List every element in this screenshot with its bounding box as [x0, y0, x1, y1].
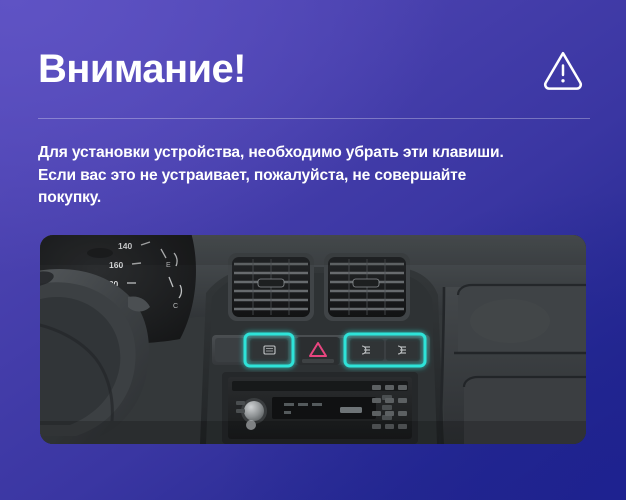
warning-triangle-icon	[540, 46, 586, 92]
banner-body-text: Для установки устройства, необходимо убр…	[38, 142, 583, 210]
car-dashboard-illustration: 140 160 180 200 E C	[40, 235, 586, 444]
warning-banner: Внимание! Для установки устройства, необ…	[0, 0, 626, 500]
car-dashboard-photo: 140 160 180 200 E C	[40, 235, 586, 444]
body-line-1: Для установки устройства, необходимо убр…	[38, 142, 583, 165]
hazard-lights-button	[296, 337, 340, 365]
banner-header: Внимание!	[38, 30, 588, 108]
rear-defogger-button	[250, 339, 288, 361]
page-title: Внимание!	[38, 47, 246, 91]
header-divider	[38, 118, 590, 119]
glove-box-panel	[440, 285, 586, 444]
body-line-3: покупку.	[38, 187, 583, 210]
body-line-2: Если вас это не устраивает, пожалуйста, …	[38, 165, 583, 188]
svg-text:C: C	[173, 303, 178, 310]
